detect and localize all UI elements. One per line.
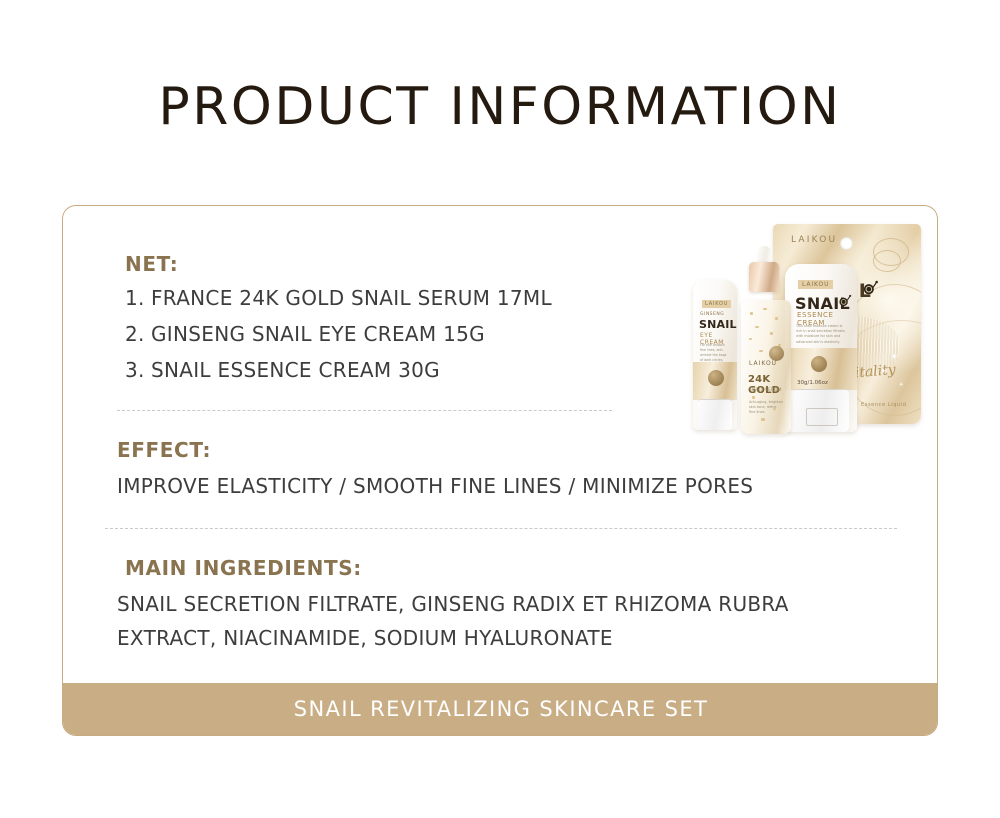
eye-cream-title-text: SNAIL: [699, 318, 737, 331]
gold-flake: [759, 350, 763, 352]
net-list-item: 3.SNAIL ESSENCE CREAM 30G: [125, 358, 440, 382]
gold-flake: [749, 338, 752, 340]
sparkle-icon: ✦: [899, 382, 903, 388]
serum-bottle-dropper-cap: [749, 262, 779, 292]
main-ingredients-text: EXTRACT, NIACINAMIDE, SODIUM HYALURONATE: [117, 626, 613, 650]
ginseng-snail-eye-cream-tube: LAIKOU GINSENG SNAIL EYE CREAM For eye s…: [693, 280, 737, 430]
serum-sub-text: SNAIL SERUM: [749, 387, 782, 392]
serum-title-text: 24K GOLD: [748, 374, 791, 396]
pouch-footnote-text: Essence Liquid: [861, 402, 907, 408]
net-list-item: 1.FRANCE 24K GOLD SNAIL SERUM 17ML: [125, 286, 552, 310]
section-divider: [105, 528, 897, 529]
product-information-card: NET: 1.FRANCE 24K GOLD SNAIL SERUM 17ML …: [62, 205, 938, 736]
gold-flake: [761, 418, 765, 421]
snail-seal-icon: [769, 346, 784, 361]
card-body: NET: 1.FRANCE 24K GOLD SNAIL SERUM 17ML …: [63, 206, 938, 684]
net-label: NET:: [125, 252, 178, 276]
effect-label: EFFECT:: [117, 438, 211, 462]
cream-tube-cap: [793, 389, 849, 432]
eye-cream-sub-text: GINSENG: [700, 312, 724, 317]
snail-seal-icon: [811, 356, 827, 372]
cream-net-weight-text: 30g/1.06oz: [797, 380, 828, 386]
bottom-banner-text: SNAIL REVITALIZING SKINCARE SET: [294, 697, 708, 721]
bottom-banner: SNAIL REVITALIZING SKINCARE SET: [63, 683, 938, 735]
net-item-text: GINSENG SNAIL EYE CREAM 15G: [151, 322, 485, 346]
eye-cream-gold-band: [693, 362, 737, 400]
effect-text: IMPROVE ELASTICITY / SMOOTH FINE LINES /…: [117, 474, 753, 498]
product-photo: LAIKOU SNAIL MASK Vitality ✦ ✦ ✦ Essence…: [661, 224, 931, 454]
serum-description-text: Anti-aging, brighten skin tone, refine f…: [749, 400, 783, 415]
sparkle-icon: ✦: [891, 352, 898, 361]
page-title: PRODUCT INFORMATION: [0, 76, 1000, 138]
net-list-item: 2.GINSENG SNAIL EYE CREAM 15G: [125, 322, 485, 346]
main-ingredients-text: SNAIL SECRETION FILTRATE, GINSENG RADIX …: [117, 592, 789, 616]
eye-cream-tube-cap: [698, 399, 732, 430]
net-item-text: SNAIL ESSENCE CREAM 30G: [151, 358, 440, 382]
serum-brand-text: LAIKOU: [749, 360, 777, 367]
gold-flake: [755, 326, 759, 328]
section-divider: [117, 410, 612, 411]
sparkle-icon: ✦: [881, 368, 886, 375]
snail-essence-cream-tube: LAIKOU SNAIL ESSENCE CREAM This snail es…: [785, 264, 857, 432]
main-ingredients-label: MAIN INGREDIENTS:: [125, 556, 362, 580]
cream-brand-text: LAIKOU: [798, 280, 833, 289]
gold-snail-serum-bottle: LAIKOU 24K GOLD SNAIL SERUM Anti-aging, …: [741, 300, 791, 434]
snail-seal-icon: [708, 370, 724, 386]
cream-description-text: This snail essence cream is rich in snai…: [796, 324, 848, 345]
pouch-hang-hole: [840, 237, 853, 250]
gold-flake: [752, 396, 755, 399]
net-item-number: 1.: [125, 286, 151, 310]
gold-flake: [763, 308, 767, 310]
net-item-text: FRANCE 24K GOLD SNAIL SERUM 17ML: [151, 286, 552, 310]
snail-icon: [862, 280, 879, 295]
snail-icon: [838, 294, 852, 307]
pouch-brand-text: LAIKOU: [791, 235, 837, 245]
net-item-number: 2.: [125, 322, 151, 346]
net-item-number: 3.: [125, 358, 151, 382]
gold-flake: [750, 312, 753, 315]
eye-cream-brand-text: LAIKOU: [702, 300, 731, 308]
gold-flake: [775, 317, 778, 320]
gold-flake: [770, 332, 773, 335]
swirl-decoration: [873, 250, 901, 272]
